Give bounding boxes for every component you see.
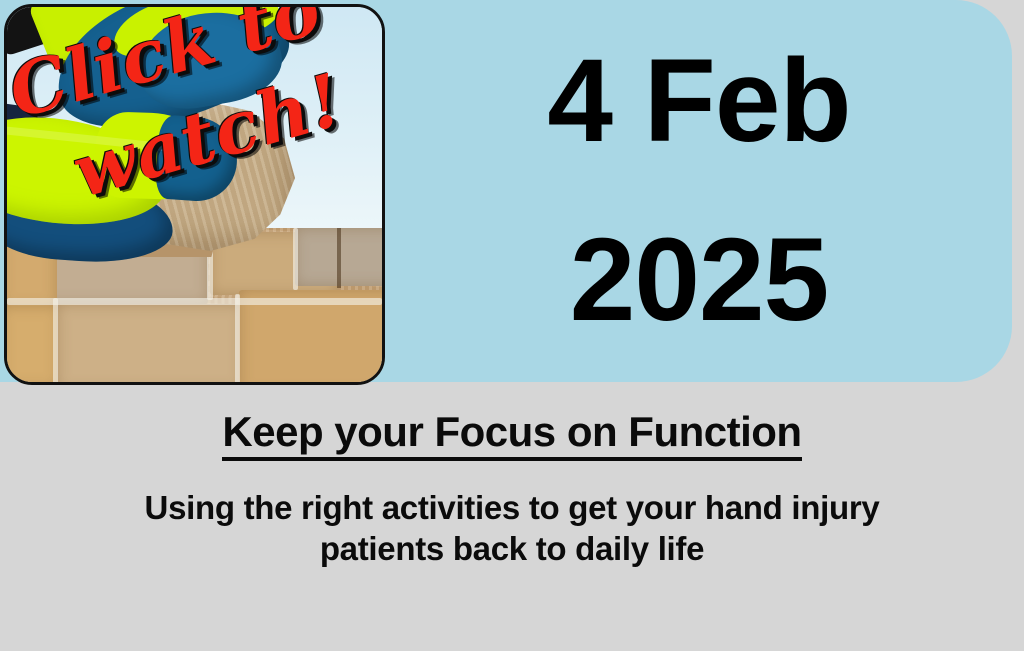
video-thumbnail[interactable]: Click to watch! — [4, 4, 385, 385]
wall-brick — [7, 306, 59, 382]
session-details: Keep your Focus on Function Using the ri… — [0, 388, 1024, 651]
date-line-year: 2025 — [570, 191, 829, 370]
wall-brick — [57, 304, 243, 382]
date-line-day-month: 4 Feb — [547, 12, 850, 191]
brick-gap-shadow — [337, 228, 341, 288]
session-subtitle-line-1: Using the right activities to get your h… — [72, 487, 952, 528]
date-text: 4 Feb 2025 — [386, 0, 1012, 382]
mortar-line — [235, 294, 240, 382]
mortar-line — [293, 228, 298, 290]
page-title-wrap: Keep your Focus on Function — [0, 388, 1024, 461]
session-subtitle: Using the right activities to get your h… — [72, 487, 952, 570]
session-subtitle-line-2: patients back to daily life — [72, 528, 952, 569]
mortar-line — [7, 298, 382, 305]
mortar-line — [53, 298, 58, 382]
page-title: Keep your Focus on Function — [222, 388, 801, 461]
webinar-promo-card: 4 Feb 2025 — [0, 0, 1024, 651]
